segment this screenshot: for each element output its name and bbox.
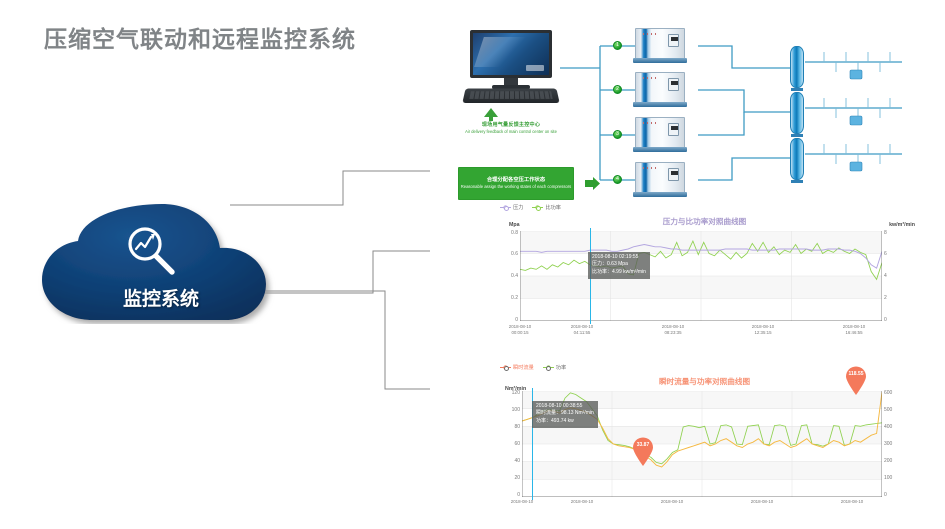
chart2-xtick-2-date: 2018-08-10 (644, 499, 700, 505)
chart1-ytick-0: 0 (492, 317, 518, 323)
chart1-xtick-3: 2018-08-10 12:35:15 (735, 324, 791, 336)
chart2-xtick-3: 2018-08-10 (734, 499, 790, 505)
chart2-legend[interactable]: 瞬时流量 功率 (500, 364, 566, 371)
legend-label-instant-flow: 瞬时流量 (513, 364, 534, 371)
chart1-legend[interactable]: 压力 比功率 (500, 204, 561, 211)
green-right-arrow-icon (584, 176, 601, 191)
air-compressor-1[interactable] (635, 28, 685, 64)
chart1-xtick-0-time: 00:00:15 (492, 330, 548, 336)
chart2-ytick-6: 120 (492, 390, 520, 396)
chart2-xtick-1-date: 2018-08-10 (554, 499, 610, 505)
annotation-pin-min-value: 33.87 (632, 442, 654, 448)
status-node-4[interactable]: 4 (613, 175, 622, 184)
status-node-2[interactable]: 2 (613, 85, 622, 94)
chart1-ytick-2: 0.4 (492, 273, 518, 279)
chart1-y2tick-3: 6 (884, 251, 898, 257)
chart2-tooltip-flow: 瞬时流量：98.13 Nm³/min (536, 410, 594, 417)
chart1-ytick-3: 0.6 (492, 251, 518, 257)
green-up-arrow-icon (483, 108, 499, 122)
chart2-y2tick-4: 400 (884, 424, 902, 430)
chart2-tooltip-power: 功率：493.74 kw (536, 418, 594, 425)
assign-box-cn: 合理分配各空压工作状态 (487, 177, 545, 184)
chart2-ytick-2: 40 (492, 458, 520, 464)
chart2-ytick-5: 100 (492, 407, 520, 413)
chart1-plot-area (520, 231, 882, 321)
chart-pressure-vs-specific-power[interactable]: 压力 比功率 压力与比功率对照曲线图 Mpa kw/m³/min 0 0.2 0… (492, 200, 917, 335)
chart1-y2-axis-unit: kw/m³/min (889, 222, 915, 228)
legend-marker-pressure (500, 205, 511, 210)
chart1-y2tick-4: 8 (884, 230, 898, 236)
assign-box-en: Reasonable assign the working states of … (461, 184, 572, 189)
chart-flow-vs-power[interactable]: 瞬时流量 功率 瞬时流量与功率对照曲线图 Nm³/min 0 20 40 60 … (492, 362, 917, 522)
chart1-xtick-2: 2018-08-10 08:23:35 (645, 324, 701, 336)
chart1-tooltip-specific-power: 比功率：4.99 kw/m³/min (592, 269, 646, 276)
air-tank-3[interactable] (790, 138, 804, 180)
chart1-tooltip-pressure: 压力：0.63 Mpa (592, 261, 646, 268)
chart2-xtick-2: 2018-08-10 (644, 499, 700, 505)
chart2-xtick-0-date: 2018-08-10 (494, 499, 550, 505)
legend-marker-instant-flow (500, 365, 511, 370)
chart1-y-axis-unit: Mpa (509, 222, 520, 228)
status-node-4-label: 4 (614, 176, 621, 183)
feedback-caption-cn: 现场用气量反馈主控中心 (444, 122, 578, 129)
chart1-xtick-1: 2018-08-10 04:11:55 (554, 324, 610, 336)
chart2-y2tick-5: 500 (884, 407, 902, 413)
chart2-xtick-4-date: 2018-08-10 (824, 499, 880, 505)
chart2-tooltip: 2018-08-10 00:38:55 瞬时流量：98.13 Nm³/min 功… (532, 401, 598, 428)
chart1-y2tick-1: 2 (884, 295, 898, 301)
status-node-1-label: 1 (614, 42, 621, 49)
chart1-ytick-4: 0.8 (492, 230, 518, 236)
status-node-2-label: 2 (614, 86, 621, 93)
air-compressor-3[interactable] (635, 117, 685, 153)
chart2-y2tick-6: 600 (884, 390, 902, 396)
legend-item-specific-power[interactable]: 比功率 (532, 204, 561, 211)
chart2-y2tick-0: 0 (884, 492, 902, 498)
chart1-xtick-2-time: 08:23:35 (645, 330, 701, 336)
status-node-1[interactable]: 1 (613, 41, 622, 50)
chart2-xtick-4: 2018-08-10 (824, 499, 880, 505)
chart1-tooltip: 2018-08-10 02:19:55 压力：0.63 Mpa 比功率：4.99… (588, 252, 650, 279)
chart1-xtick-4-time: 16:46:55 (826, 330, 882, 336)
air-compressor-4[interactable] (635, 162, 685, 198)
annotation-pin-min[interactable]: 33.87 (632, 437, 654, 467)
air-tank-1[interactable] (790, 46, 804, 88)
chart1-title: 压力与比功率对照曲线图 (492, 216, 917, 227)
legend-label-specific-power: 比功率 (545, 204, 561, 211)
magnifier-chart-icon (120, 222, 180, 280)
legend-label-power: 功率 (556, 364, 566, 371)
chart1-xtick-4: 2018-08-10 16:46:55 (826, 324, 882, 336)
chart2-y2tick-2: 200 (884, 458, 902, 464)
chart2-ytick-0: 0 (492, 492, 520, 498)
status-node-3[interactable]: 3 (613, 130, 622, 139)
feedback-caption-en: Air delivery feedback of main control ce… (444, 129, 578, 135)
air-tank-2[interactable] (790, 92, 804, 134)
legend-item-power[interactable]: 功率 (543, 364, 566, 371)
legend-marker-specific-power (532, 205, 543, 210)
keyboard-icon (462, 89, 559, 103)
page-title: 压缩空气联动和远程监控系统 (44, 20, 356, 54)
chart2-xtick-3-date: 2018-08-10 (734, 499, 790, 505)
chart1-xtick-3-time: 12:35:15 (735, 330, 791, 336)
chart2-ytick-1: 20 (492, 475, 520, 481)
annotation-pin-max-value: 118.55 (845, 371, 867, 377)
chart2-ytick-4: 80 (492, 424, 520, 430)
status-node-3-label: 3 (614, 131, 621, 138)
air-compressor-2[interactable] (635, 72, 685, 108)
chart2-xtick-1: 2018-08-10 (554, 499, 610, 505)
annotation-pin-max[interactable]: 118.55 (845, 366, 867, 396)
chart1-ytick-1: 0.2 (492, 295, 518, 301)
assign-status-box: 合理分配各空压工作状态 Reasonable assign the workin… (458, 167, 574, 200)
chart2-xtick-0: 2018-08-10 (494, 499, 550, 505)
chart1-xtick-0: 2018-08-10 00:00:15 (492, 324, 548, 336)
chart2-ytick-3: 60 (492, 441, 520, 447)
chart1-y2tick-0: 0 (884, 317, 898, 323)
desktop-monitor-icon (464, 30, 558, 106)
system-topology-diagram[interactable]: 现场用气量反馈主控中心 Air delivery feedback of mai… (432, 22, 932, 208)
chart1-xtick-1-time: 04:11:55 (554, 330, 610, 336)
legend-item-pressure[interactable]: 压力 (500, 204, 523, 211)
feedback-caption: 现场用气量反馈主控中心 Air delivery feedback of mai… (444, 122, 578, 134)
chart2-y2tick-3: 300 (884, 441, 902, 447)
slide-canvas: 压缩空气联动和远程监控系统 (0, 0, 945, 529)
legend-label-pressure: 压力 (513, 204, 523, 211)
chart1-y2tick-2: 4 (884, 273, 898, 279)
legend-marker-power (543, 365, 554, 370)
legend-item-instant-flow[interactable]: 瞬时流量 (500, 364, 534, 371)
chart2-y2tick-1: 100 (884, 475, 902, 481)
cloud-label: 监控系统 (34, 284, 288, 311)
